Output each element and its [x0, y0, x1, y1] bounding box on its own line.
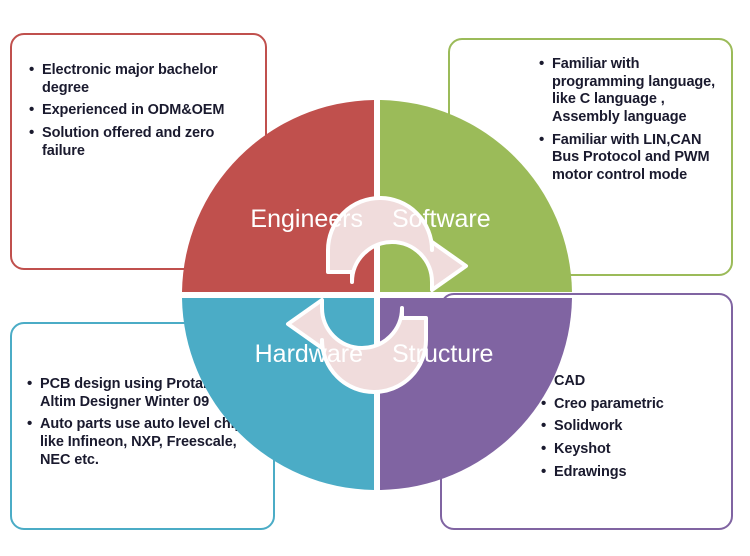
quadrant-label-hardware: Hardware	[255, 340, 363, 368]
quadrant-label-engineers: Engineers	[250, 205, 363, 233]
quadrant-label-software: Software	[392, 205, 491, 233]
diagram-canvas: Electronic major bachelor degree Experie…	[0, 0, 750, 556]
list-item: Electronic major bachelor degree	[28, 62, 251, 97]
quadrant-wheel: Engineers Software Hardware Structure	[182, 100, 572, 490]
quadrant-label-structure: Structure	[392, 340, 493, 368]
quadrant-software[interactable]	[380, 100, 572, 292]
quadrant-hardware[interactable]	[182, 298, 374, 490]
